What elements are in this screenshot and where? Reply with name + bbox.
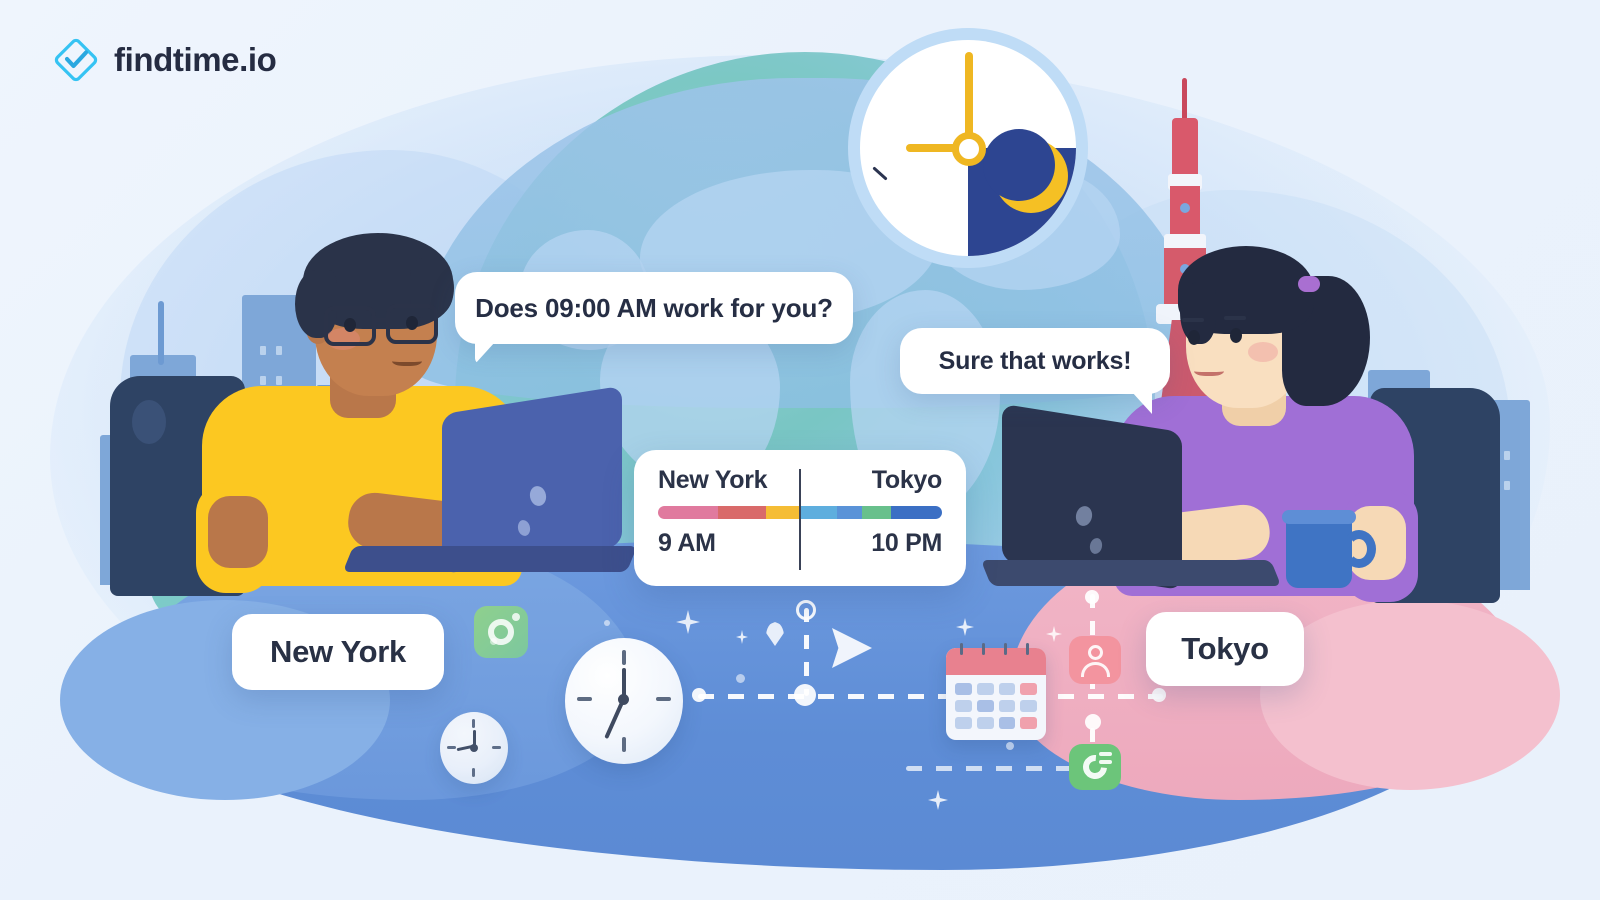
bubble-tail-right [1132,392,1152,414]
timezone-comparison-card[interactable]: New York Tokyo 9 AM 10 PM [634,450,966,586]
connector-ring [796,600,816,620]
tokyo-person [980,238,1500,608]
tz-left-city: New York [658,466,767,495]
timezone-bar-segment-3 [800,506,837,519]
check-diamond-icon [52,36,100,84]
city-label-new-york-text: New York [270,634,406,670]
decor-dot [1006,742,1014,750]
connector-endpoint [692,688,706,702]
small-clock-icon [440,712,508,784]
brand-logo[interactable]: findtime.io [52,36,276,84]
city-label-tokyo[interactable]: Tokyo [1146,612,1304,686]
wall-clock-icon [565,638,683,764]
sync-icon [1069,744,1121,790]
connector-node [794,684,816,706]
tz-right-city: Tokyo [872,466,942,495]
timezone-bar-segment-5 [862,506,890,519]
tz-left-time: 9 AM [658,529,716,558]
connector-line-horizontal [698,694,1163,699]
calendar-ring [1026,643,1029,655]
city-label-new-york[interactable]: New York [232,614,444,690]
calendar-ring [1004,643,1007,655]
decor-dot [736,674,745,683]
speech-bubble-tokyo[interactable]: Sure that works! [900,328,1170,394]
decor-dot [604,620,610,626]
timezone-bar-segment-0 [658,506,718,519]
calendar-ring [982,643,985,655]
connector-endpoint [1085,590,1099,604]
connector-line-vertical [804,608,809,696]
day-night-clock-icon [848,28,1088,268]
bubble-tail-left [475,342,495,364]
timezone-bar-segment-6 [891,506,942,519]
tz-divider [799,469,801,570]
camera-icon [474,606,528,658]
illustration-canvas: Does 09:00 AM work for you? Sure that wo… [0,0,1600,900]
speech-bubble-right-text: Sure that works! [939,347,1132,376]
speech-bubble-new-york[interactable]: Does 09:00 AM work for you? [455,272,853,344]
cloud-right-2 [1260,600,1560,790]
calendar-ring [960,643,963,655]
contact-icon [1069,636,1121,684]
timezone-bar-segment-4 [837,506,863,519]
speech-bubble-left-text: Does 09:00 AM work for you? [475,293,833,324]
city-label-tokyo-text: Tokyo [1181,631,1269,667]
decor-dot [490,638,497,645]
calendar-icon [946,648,1046,740]
brand-name: findtime.io [114,41,276,79]
timezone-bar-segment-1 [718,506,766,519]
tz-right-time: 10 PM [871,529,942,558]
connector-endpoint [1152,688,1166,702]
timezone-bar-segment-2 [766,506,800,519]
